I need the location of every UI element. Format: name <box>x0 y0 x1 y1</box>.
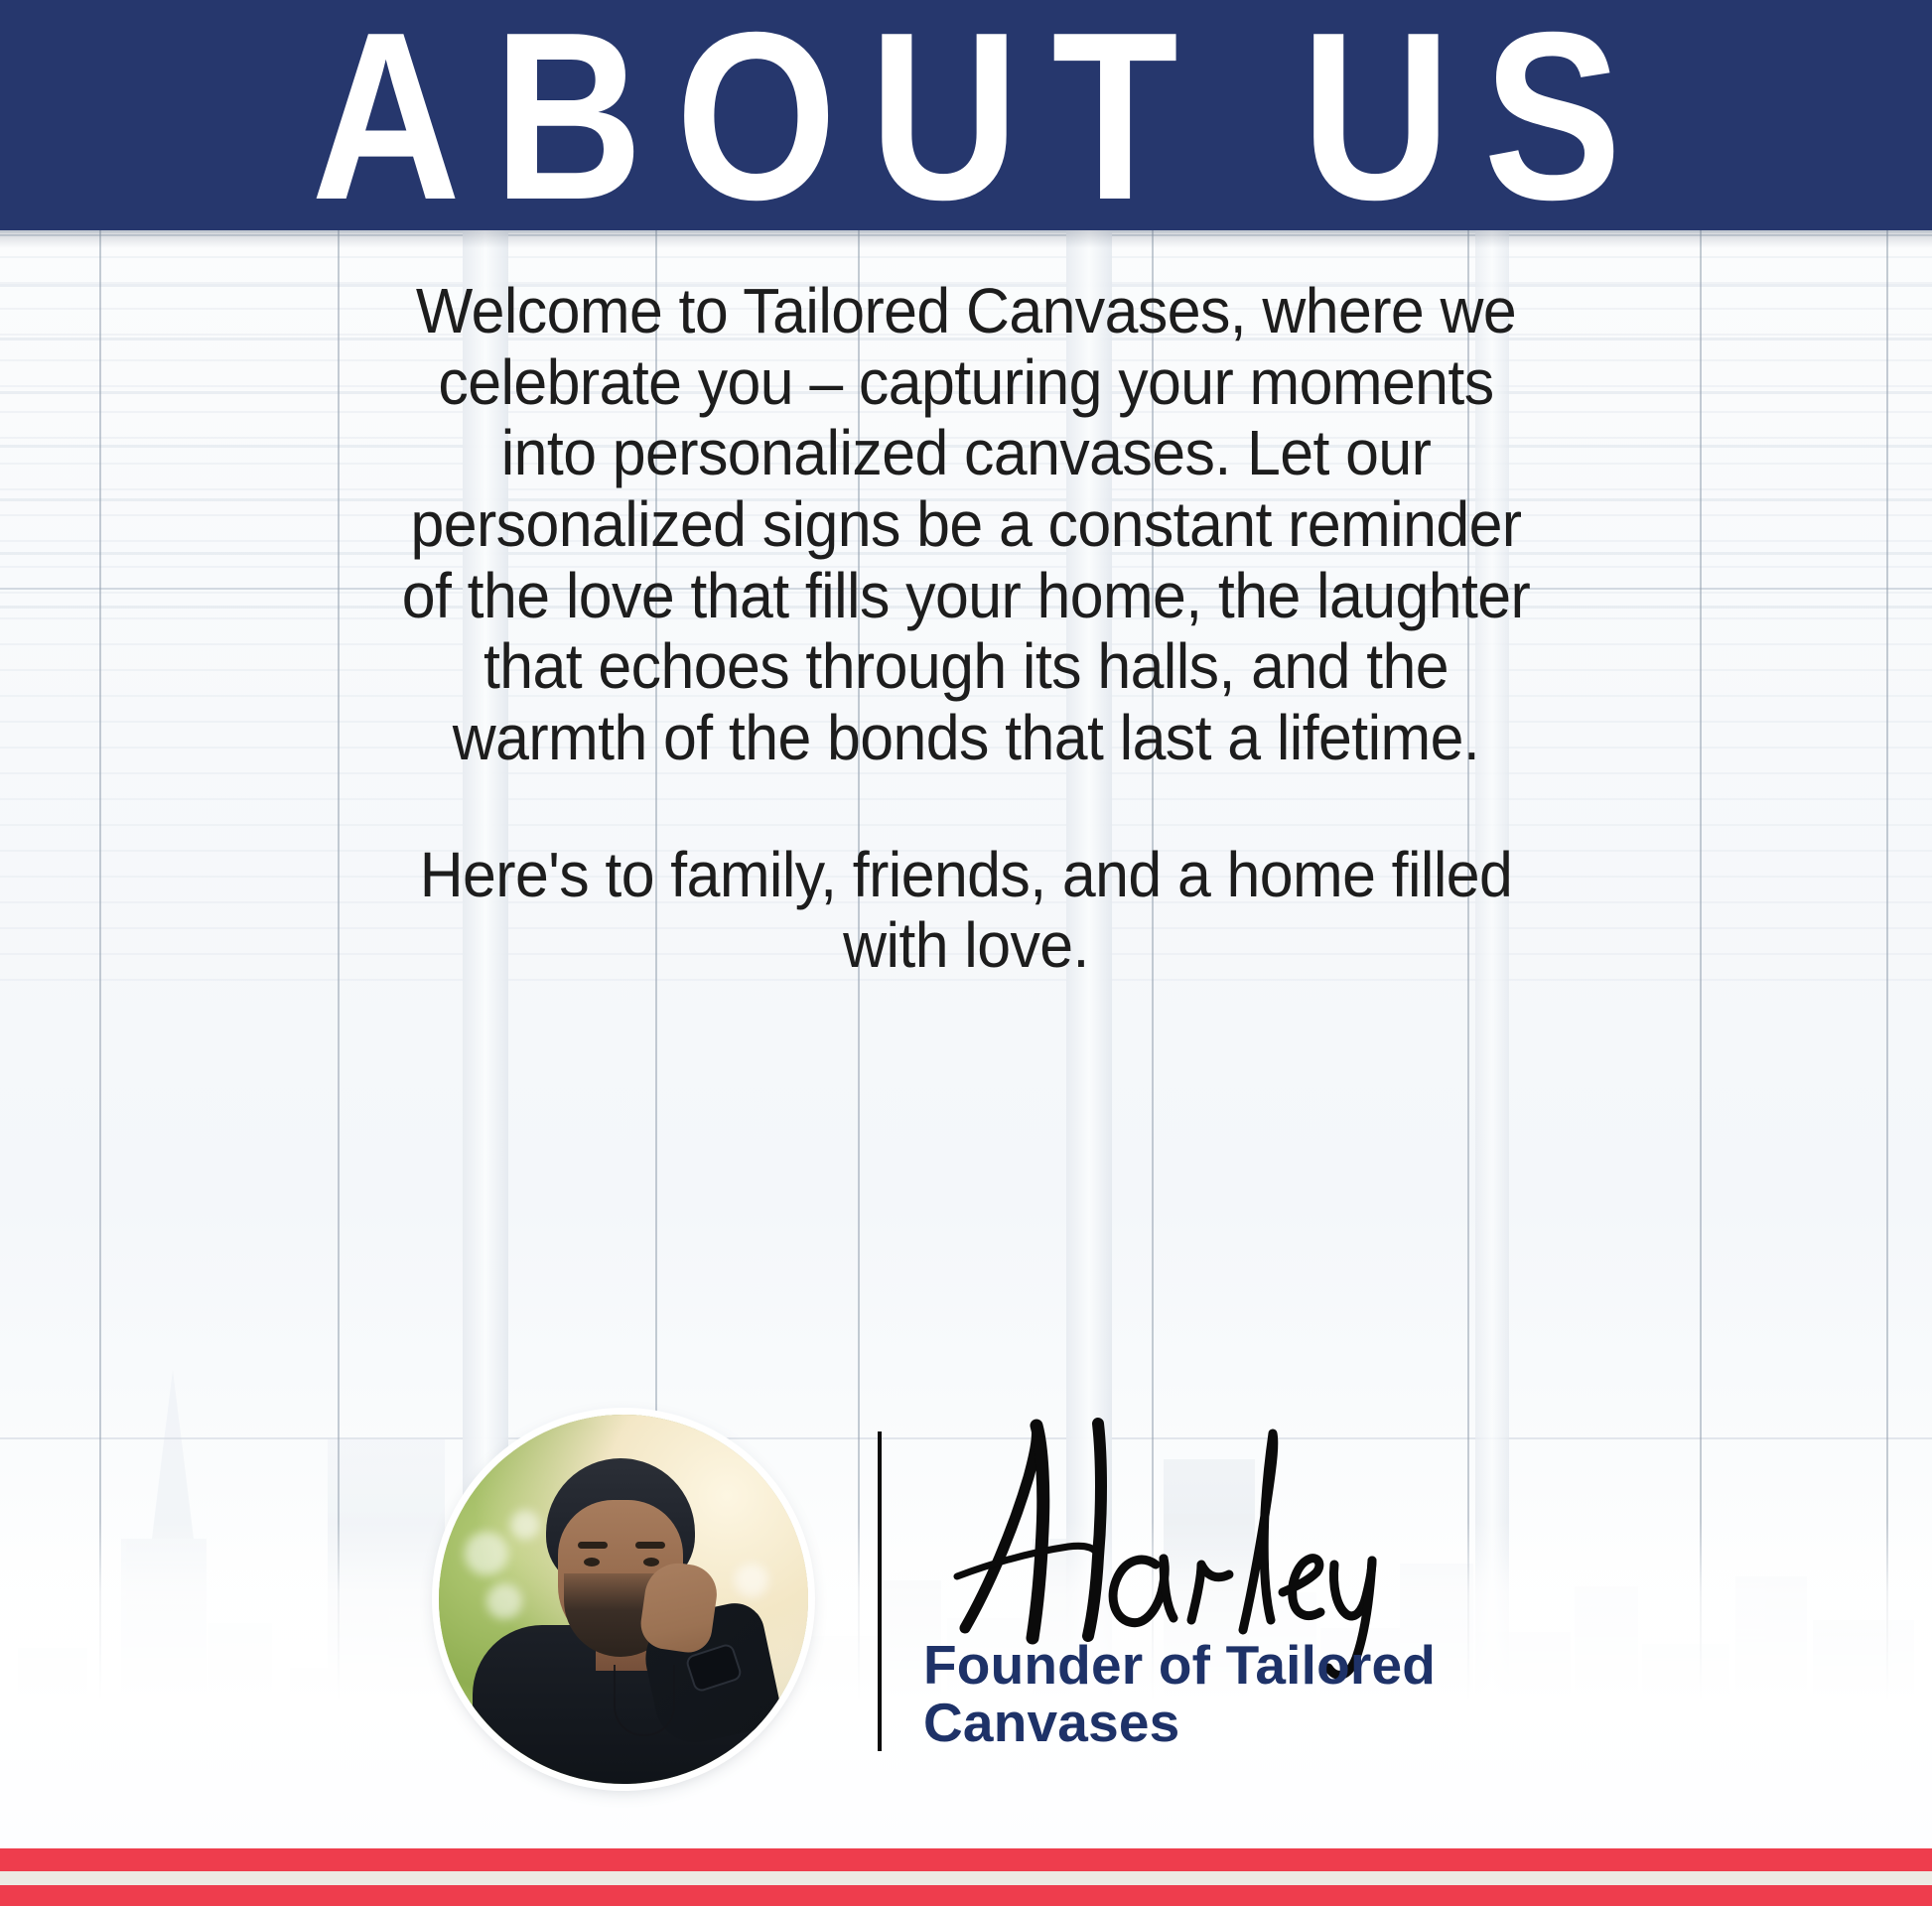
page-title: ABOUT US <box>278 0 1654 234</box>
portrait-eye <box>584 1558 600 1566</box>
footer-bar-top <box>0 1848 1932 1871</box>
avatar <box>439 1415 808 1784</box>
about-us-poster: ABOUT US Welcome to Tailored Canvases, w… <box>0 0 1932 1906</box>
about-us-copy: Welcome to Tailored Canvases, where we c… <box>365 276 1567 982</box>
bokeh-highlight <box>486 1583 522 1619</box>
founder-title-line-1: Founder of Tailored <box>923 1636 1539 1694</box>
founder-signature-block: Founder of Tailored Canvases <box>0 1410 1932 1807</box>
portrait-necklace <box>614 1665 675 1736</box>
portrait-eyebrow <box>578 1542 608 1549</box>
closing-paragraph: Here's to family, friends, and a home fi… <box>395 840 1537 982</box>
banner-shadow <box>0 230 1932 248</box>
founder-title: Founder of Tailored Canvases <box>923 1636 1539 1752</box>
portrait-eye <box>643 1558 659 1566</box>
founder-portrait-photo <box>439 1415 808 1784</box>
footer-bar-bottom <box>0 1885 1932 1906</box>
bokeh-highlight <box>465 1532 508 1575</box>
bokeh-highlight <box>735 1564 768 1597</box>
footer-bar-gap <box>0 1871 1932 1885</box>
bokeh-highlight <box>510 1510 540 1540</box>
founder-title-line-2: Canvases <box>923 1694 1539 1751</box>
intro-paragraph: Welcome to Tailored Canvases, where we c… <box>395 276 1537 774</box>
portrait-eyebrow <box>635 1542 665 1549</box>
signature-divider <box>878 1431 882 1751</box>
about-us-banner: ABOUT US <box>0 0 1932 230</box>
